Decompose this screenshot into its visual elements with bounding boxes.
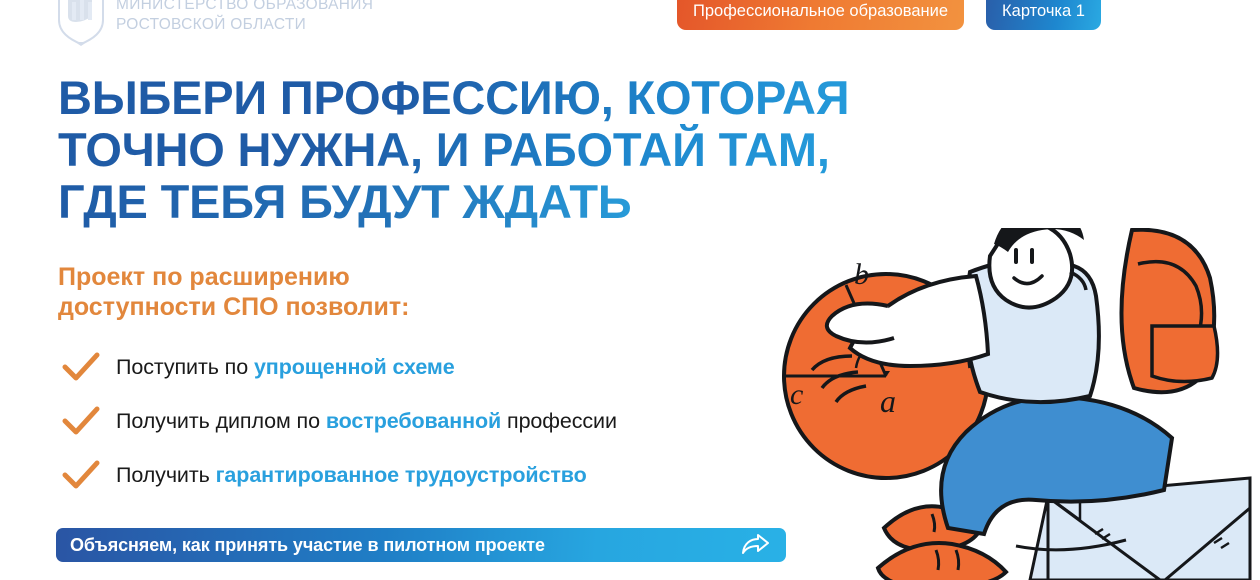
list-item: Получить гарантированное трудоустройство bbox=[58, 448, 778, 502]
badge-row: Профессиональное образование Карточка 1 bbox=[677, 0, 1101, 30]
bullet-1-plain-before: Поступить по bbox=[116, 355, 254, 379]
list-item-text: Поступить по упрощенной схеме bbox=[116, 355, 455, 380]
student-with-backpack-and-geometry: b c a bbox=[780, 228, 1260, 580]
subhead: Проект по расширению доступности СПО поз… bbox=[58, 262, 409, 322]
list-item-text: Получить гарантированное трудоустройство bbox=[116, 463, 587, 488]
share-arrow-icon[interactable] bbox=[740, 533, 770, 557]
check-icon bbox=[58, 347, 104, 387]
circle-label-c: c bbox=[790, 378, 803, 411]
student-illustration: b c a bbox=[780, 228, 1260, 580]
bullet-2-highlight: востребованной bbox=[326, 409, 501, 433]
list-item: Поступить по упрощенной схеме bbox=[58, 340, 778, 394]
ministry-logo: МИНИСТЕРСТВО ОБРАЗОВАНИЯ РОСТОВСКОЙ ОБЛА… bbox=[55, 0, 373, 46]
check-icon bbox=[58, 401, 104, 441]
cta-label: Объясняем, как принять участие в пилотно… bbox=[70, 535, 545, 556]
check-icon bbox=[58, 455, 104, 495]
headline-line-3: ГДЕ ТЕБЯ БУДУТ ЖДАТЬ bbox=[58, 176, 968, 228]
badge-professional-education[interactable]: Профессиональное образование bbox=[677, 0, 964, 30]
backpack bbox=[1121, 230, 1217, 393]
subhead-line-1: Проект по расширению bbox=[58, 262, 409, 292]
bullet-3-plain-before: Получить bbox=[116, 463, 216, 487]
headline-line-1: ВЫБЕРИ ПРОФЕССИЮ, КОТОРАЯ bbox=[58, 72, 968, 124]
bullet-3-highlight: гарантированное трудоустройство bbox=[216, 463, 587, 487]
badge-card-number[interactable]: Карточка 1 bbox=[986, 0, 1101, 30]
coat-of-arms-icon bbox=[55, 0, 107, 46]
circle-label-a: a bbox=[880, 383, 896, 419]
headline-line-2: ТОЧНО НУЖНА, И РАБОТАЙ ТАМ, bbox=[58, 124, 968, 176]
bullet-2-plain-before: Получить диплом по bbox=[116, 409, 326, 433]
cta-bar[interactable]: Объясняем, как принять участие в пилотно… bbox=[56, 528, 786, 562]
infographic-card: МИНИСТЕРСТВО ОБРАЗОВАНИЯ РОСТОВСКОЙ ОБЛА… bbox=[0, 0, 1260, 580]
circle-label-b: b bbox=[854, 258, 869, 291]
subhead-line-2: доступности СПО позволит: bbox=[58, 292, 409, 322]
ministry-line-1: МИНИСТЕРСТВО ОБРАЗОВАНИЯ bbox=[116, 0, 373, 15]
bullet-1-highlight: упрощенной схеме bbox=[254, 355, 455, 379]
list-item: Получить диплом по востребованной профес… bbox=[58, 394, 778, 448]
ministry-line-2: РОСТОВСКОЙ ОБЛАСТИ bbox=[116, 15, 373, 35]
headline: ВЫБЕРИ ПРОФЕССИЮ, КОТОРАЯ ТОЧНО НУЖНА, И… bbox=[58, 72, 968, 228]
benefits-list: Поступить по упрощенной схеме Получить д… bbox=[58, 340, 778, 502]
list-item-text: Получить диплом по востребованной профес… bbox=[116, 409, 617, 434]
bullet-2-plain-after: профессии bbox=[501, 409, 617, 433]
